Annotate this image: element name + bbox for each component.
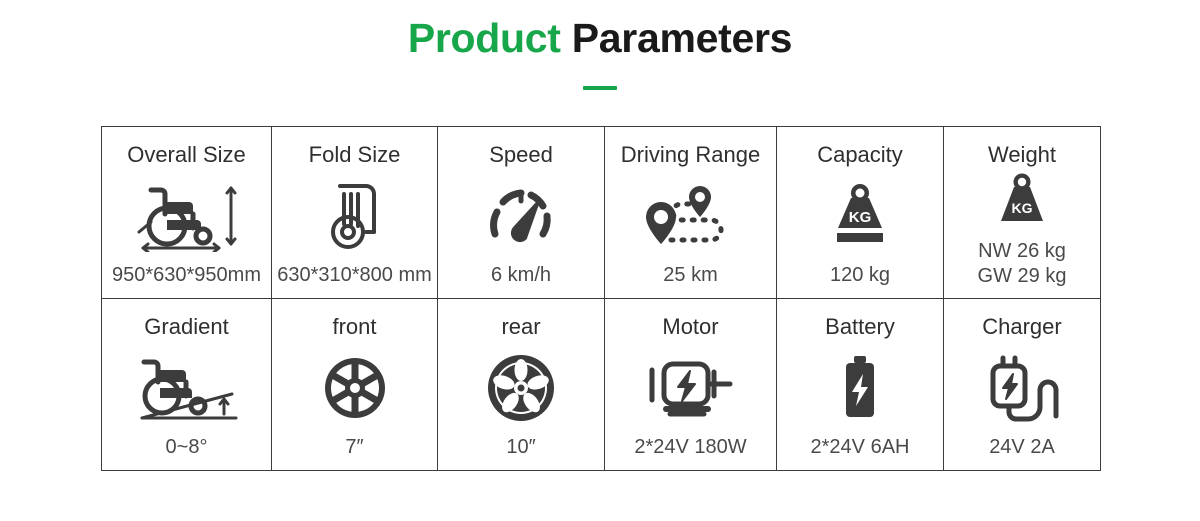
spec-value: 25 km bbox=[663, 264, 717, 288]
spec-value: 24V 2A bbox=[989, 436, 1055, 460]
product-parameters-page: Product Parameters Overall Size bbox=[0, 0, 1200, 521]
spec-value: 10″ bbox=[506, 436, 535, 460]
spec-label: Gradient bbox=[144, 315, 228, 339]
spec-value: 7″ bbox=[345, 436, 363, 460]
page-header: Product Parameters bbox=[0, 0, 1200, 90]
spec-label: rear bbox=[501, 315, 540, 339]
kg-weight-icon: KG bbox=[948, 167, 1096, 239]
spec-cell-weight: Weight KG NW 26 kg GW 29 kg bbox=[944, 127, 1101, 299]
map-route-pins-icon bbox=[609, 167, 772, 264]
spec-label: Weight bbox=[988, 143, 1056, 167]
battery-bolt-icon bbox=[781, 339, 939, 436]
spec-cell-rear-wheel: rear bbox=[438, 299, 605, 471]
spec-cell-speed: Speed bbox=[438, 127, 605, 299]
table-row: Overall Size bbox=[102, 127, 1101, 299]
page-title-rest: Parameters bbox=[561, 15, 792, 61]
spec-label: Driving Range bbox=[621, 143, 760, 167]
spec-cell-gradient: Gradient bbox=[102, 299, 272, 471]
spec-label: Overall Size bbox=[127, 143, 246, 167]
spec-cell-fold-size: Fold Size bbox=[272, 127, 438, 299]
spec-value: 6 km/h bbox=[491, 264, 551, 288]
tire-rim-icon bbox=[442, 339, 600, 436]
spec-cell-overall-size: Overall Size bbox=[102, 127, 272, 299]
table-row: Gradient bbox=[102, 299, 1101, 471]
spec-cell-front-wheel: front bbox=[272, 299, 438, 471]
spec-cell-charger: Charger bbox=[944, 299, 1101, 471]
svg-text:KG: KG bbox=[849, 209, 872, 226]
kg-weight-icon: KG bbox=[781, 167, 939, 264]
wheelchair-on-ramp-icon bbox=[106, 339, 267, 436]
title-divider bbox=[583, 86, 617, 90]
folded-wheelchair-icon bbox=[276, 167, 433, 264]
spoked-wheel-icon bbox=[276, 339, 433, 436]
spec-value: NW 26 kg bbox=[978, 239, 1066, 263]
spec-value: 950*630*950mm bbox=[112, 264, 261, 288]
spec-value: 0~8° bbox=[166, 436, 208, 460]
spec-value-secondary: GW 29 kg bbox=[978, 264, 1067, 288]
spec-label: Charger bbox=[982, 315, 1061, 339]
spec-label: Battery bbox=[825, 315, 895, 339]
spec-cell-driving-range: Driving Range bbox=[605, 127, 777, 299]
spec-value: 2*24V 6AH bbox=[811, 436, 910, 460]
page-title: Product Parameters bbox=[0, 16, 1200, 61]
electric-motor-icon bbox=[609, 339, 772, 436]
spec-cell-motor: Motor bbox=[605, 299, 777, 471]
spec-value: 2*24V 180W bbox=[634, 436, 746, 460]
page-title-accent: Product bbox=[408, 15, 561, 61]
spec-cell-capacity: Capacity KG bbox=[777, 127, 944, 299]
spec-label: Capacity bbox=[817, 143, 903, 167]
svg-text:KG: KG bbox=[1012, 200, 1033, 216]
spec-value: 120 kg bbox=[830, 264, 890, 288]
spec-label: front bbox=[332, 315, 376, 339]
speedometer-icon bbox=[442, 167, 600, 264]
spec-cell-battery: Battery 2*24V 6AH bbox=[777, 299, 944, 471]
spec-value: 630*310*800 mm bbox=[277, 264, 432, 288]
spec-label: Speed bbox=[489, 143, 553, 167]
spec-label: Motor bbox=[662, 315, 718, 339]
wheelchair-dimensions-icon bbox=[106, 167, 267, 264]
spec-table: Overall Size bbox=[101, 126, 1101, 471]
charger-plug-icon bbox=[948, 339, 1096, 436]
spec-label: Fold Size bbox=[309, 143, 401, 167]
